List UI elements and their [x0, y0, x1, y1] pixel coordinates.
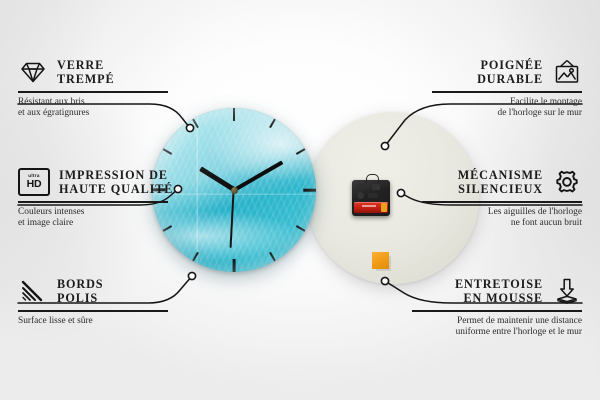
feature-title-line2: SILENCIEUX — [458, 182, 543, 196]
feature-title-line2: TREMPÉ — [57, 72, 115, 86]
feature-title-line2: EN MOUSSE — [463, 291, 543, 305]
ultra-hd-icon-main-label: HD — [27, 179, 42, 190]
feature-divider — [18, 201, 168, 203]
clock-mechanism — [352, 180, 390, 216]
feature-subtitle-line1: Couleurs intenses — [18, 207, 168, 218]
feature-title-line1: BORDS — [57, 277, 104, 291]
feature-subtitle-line2: uniforme entre l'horloge et le mur — [412, 327, 582, 338]
feature-divider — [422, 201, 582, 203]
feature-title-line1: VERRE — [57, 58, 104, 72]
mechanism-detail — [368, 193, 378, 198]
diamond-icon — [18, 59, 48, 85]
feature-poignee-durable: POIGNÉE DURABLE Facilite le montage de l… — [432, 58, 582, 119]
feature-verre-trempe: VERRE TREMPÉ Résistant aux bris et aux é… — [18, 58, 168, 119]
feature-divider — [18, 310, 168, 312]
feature-divider — [18, 91, 168, 93]
feature-mecanisme-silencieux: MÉCANISME SILENCIEUX Les aiguilles de l'… — [422, 168, 582, 229]
mechanism-battery — [354, 202, 388, 213]
feature-bords-polis: BORDS POLIS Surface lisse et sûre — [18, 277, 168, 327]
leader-dot-bords-polis — [188, 272, 195, 279]
feature-title-line2: DURABLE — [477, 72, 543, 86]
feature-subtitle-line2: de l'horloge sur le mur — [432, 108, 582, 119]
feature-subtitle-line1: Permet de maintenir une distance — [412, 316, 582, 327]
feature-divider — [412, 310, 582, 312]
hanging-frame-icon — [552, 59, 582, 85]
feature-subtitle-line1: Les aiguilles de l'horloge — [422, 207, 582, 218]
feature-divider — [432, 91, 582, 93]
feature-title-line2: HAUTE QUALITÉ — [59, 182, 173, 196]
battery-positive-terminal — [381, 203, 387, 212]
feature-title-line2: POLIS — [57, 291, 98, 305]
mechanism-detail — [357, 192, 364, 199]
feature-title-line1: MÉCANISME — [458, 168, 543, 182]
feature-title-line1: ENTRETOISE — [455, 277, 543, 291]
gear-icon — [552, 169, 582, 195]
feature-subtitle-line2: et image claire — [18, 218, 168, 229]
clock-glass-reflection — [152, 108, 316, 272]
diagonal-lines-icon — [18, 278, 48, 304]
foam-spacer — [372, 252, 389, 269]
infographic-stage: VERRE TREMPÉ Résistant aux bris et aux é… — [0, 0, 600, 400]
ultra-hd-icon: ultra HD — [18, 168, 50, 196]
clock-front-face — [152, 108, 316, 272]
arrow-down-pad-icon — [552, 278, 582, 304]
feature-title-line1: IMPRESSION DE — [59, 168, 168, 182]
mechanism-detail — [356, 184, 369, 188]
feature-subtitle-line1: Résistant aux bris — [18, 97, 168, 108]
feature-impression-haute-qualite: ultra HD IMPRESSION DE HAUTE QUALITÉ Cou… — [18, 168, 168, 229]
feature-subtitle-line2: et aux égratignures — [18, 108, 168, 119]
battery-band — [362, 205, 376, 207]
feature-subtitle-line1: Surface lisse et sûre — [18, 316, 168, 327]
feature-subtitle-line1: Facilite le montage — [432, 97, 582, 108]
feature-entretoise-en-mousse: ENTRETOISE EN MOUSSE Permet de maintenir… — [412, 277, 582, 338]
mechanism-detail — [372, 184, 380, 190]
feature-subtitle-line2: ne font aucun bruit — [422, 218, 582, 229]
mechanism-hanger-icon — [366, 174, 379, 183]
feature-title-line1: POIGNÉE — [480, 58, 543, 72]
